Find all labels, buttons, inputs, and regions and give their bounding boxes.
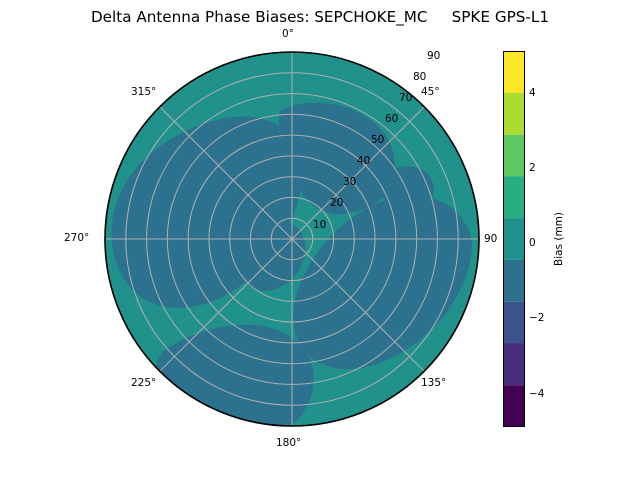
page-title: Delta Antenna Phase Biases: SEPCHOKE_MC … [0, 8, 640, 26]
angular-tick-180: 180° [276, 437, 301, 449]
colorbar-band-6 [503, 135, 525, 177]
colorbar-tick-0: 0 [529, 237, 536, 249]
colorbar-band-0 [503, 385, 525, 427]
colorbar-band-1 [503, 343, 525, 385]
radial-tick-20: 20 [330, 197, 343, 209]
radial-tick-90: 90 [427, 51, 440, 62]
colorbar-tick-neg-4: −4 [529, 388, 544, 400]
figure-canvas: Delta Antenna Phase Biases: SEPCHOKE_MC … [0, 0, 640, 480]
radial-tick-70: 70 [399, 92, 412, 104]
angular-tick-315: 315° [131, 86, 156, 98]
polar-contour-svg: 10 20 30 40 50 60 70 80 90 [104, 51, 480, 427]
angular-gridlines [105, 52, 479, 426]
colorbar-svg [503, 51, 525, 427]
colorbar-tick-2: 2 [529, 162, 536, 174]
angular-tick-225: 225° [131, 377, 156, 389]
colorbar-tick-4: 4 [529, 87, 536, 99]
angular-tick-90-clip: 90 [480, 228, 503, 252]
angular-tick-45: 45° [421, 86, 440, 98]
colorbar-band-7 [503, 93, 525, 135]
colorbar-tick-neg-2: −2 [529, 312, 544, 324]
angular-tick-135: 135° [421, 377, 446, 389]
colorbar-band-2 [503, 302, 525, 344]
radial-tick-80: 80 [413, 71, 426, 83]
polar-plot-axes[interactable]: 10 20 30 40 50 60 70 80 90 [104, 51, 480, 427]
angular-tick-90: 90 [484, 233, 497, 245]
colorbar-band-8 [503, 51, 525, 93]
colorbar-band-4 [503, 218, 525, 260]
colorbar-band-5 [503, 176, 525, 218]
radial-tick-50: 50 [371, 134, 384, 146]
radial-tick-60: 60 [385, 113, 398, 125]
radial-tick-30: 30 [343, 176, 356, 188]
radial-tick-40: 40 [357, 155, 370, 167]
colorbar-bands [503, 51, 525, 427]
colorbar-band-3 [503, 260, 525, 302]
radial-tick-10: 10 [313, 219, 326, 231]
angular-tick-0: 0° [282, 28, 294, 40]
colorbar-axis-label: Bias (mm) [548, 51, 570, 427]
contour-band-negative-notch [381, 166, 435, 212]
colorbar[interactable] [503, 51, 525, 427]
angular-tick-270: 270° [64, 232, 89, 244]
